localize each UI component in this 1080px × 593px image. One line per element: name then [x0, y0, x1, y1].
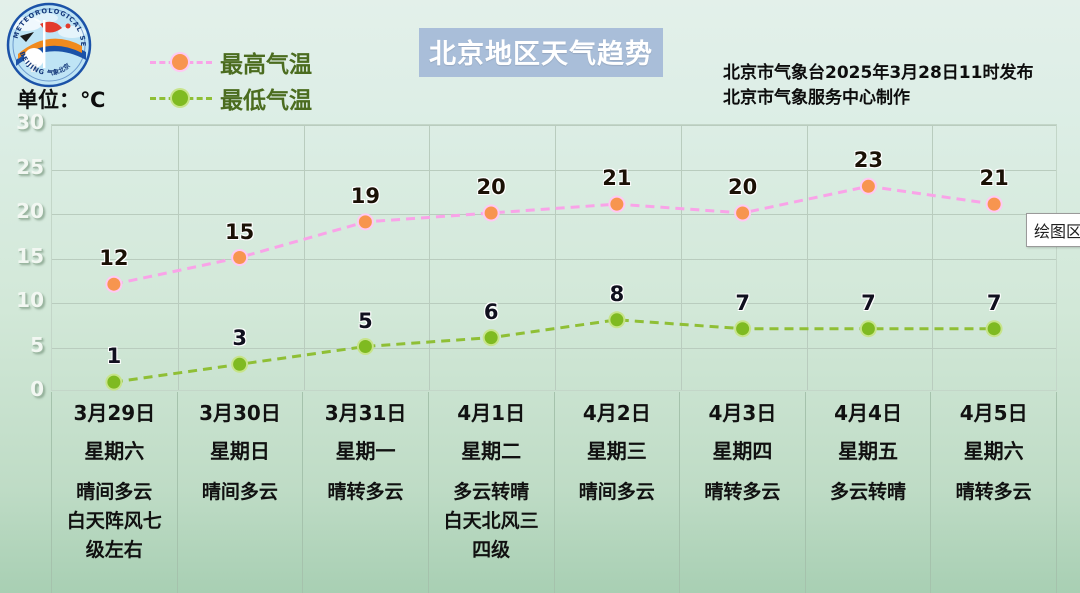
y-axis-tick-label: 0 [0, 377, 44, 401]
day-condition: 晴间多云白天阵风七级左右 [52, 478, 177, 565]
day-condition-line: 晴间多云 [54, 478, 175, 507]
value-label-low-temp: 6 [484, 300, 499, 324]
y-axis-tick-label: 30 [0, 110, 44, 134]
issuer-line-2: 北京市气象服务中心制作 [723, 86, 1033, 111]
day-condition-line: 晴转多云 [305, 478, 426, 507]
day-weekday: 星期五 [806, 436, 931, 466]
data-point-low-temp[interactable] [233, 358, 246, 371]
plot-area-tooltip: 绘图区 [1026, 213, 1080, 247]
legend-label-high-temp: 最高气温 [220, 45, 312, 79]
day-column: 4月2日星期三晴间多云 [554, 392, 680, 593]
value-label-high-temp: 23 [854, 148, 883, 172]
series-overlay [51, 124, 1057, 391]
data-point-high-temp[interactable] [107, 278, 120, 291]
data-point-high-temp[interactable] [233, 251, 246, 264]
value-label-low-temp: 1 [107, 344, 122, 368]
day-weekday: 星期六 [931, 436, 1056, 466]
day-column: 4月1日星期二多云转晴白天北风三四级 [428, 392, 554, 593]
day-weekday: 星期二 [429, 436, 554, 466]
day-detail-table: 3月29日星期六晴间多云白天阵风七级左右3月30日星期日晴间多云3月31日星期一… [51, 392, 1057, 593]
day-condition-line: 多云转晴 [808, 478, 929, 507]
day-column: 4月3日星期四晴转多云 [679, 392, 805, 593]
day-weekday: 星期日 [178, 436, 303, 466]
day-condition: 晴间多云 [178, 478, 303, 507]
day-condition-line: 晴转多云 [933, 478, 1054, 507]
day-column: 3月30日星期日晴间多云 [177, 392, 303, 593]
value-label-high-temp: 20 [728, 175, 757, 199]
data-point-high-temp[interactable] [988, 198, 1001, 211]
day-condition-line: 四级 [431, 536, 552, 565]
data-point-high-temp[interactable] [736, 207, 749, 220]
day-condition: 晴转多云 [680, 478, 805, 507]
day-date: 3月29日 [52, 399, 177, 427]
day-condition: 多云转晴 [806, 478, 931, 507]
data-point-low-temp[interactable] [862, 322, 875, 335]
day-condition-line: 晴间多云 [180, 478, 301, 507]
value-label-low-temp: 7 [735, 291, 750, 315]
value-label-high-temp: 21 [602, 166, 631, 190]
value-label-high-temp: 21 [980, 166, 1009, 190]
data-point-high-temp[interactable] [862, 180, 875, 193]
day-condition-line: 白天阵风七 [54, 507, 175, 536]
day-weekday: 星期四 [680, 436, 805, 466]
data-point-high-temp[interactable] [610, 198, 623, 211]
data-point-low-temp[interactable] [485, 331, 498, 344]
day-column: 4月5日星期六晴转多云 [930, 392, 1057, 593]
y-axis-tick-label: 10 [0, 288, 44, 312]
issuer-info: 北京市气象台2025年3月28日11时发布 北京市气象服务中心制作 [723, 61, 1033, 111]
day-date: 4月3日 [680, 399, 805, 427]
data-point-low-temp[interactable] [107, 376, 120, 389]
weather-trend-chart-page: METEOROLOGICAL SERVICE BEIJING 气象北京 单位：℃… [0, 0, 1080, 593]
value-label-low-temp: 7 [987, 291, 1002, 315]
value-label-high-temp: 19 [351, 184, 380, 208]
data-point-low-temp[interactable] [736, 322, 749, 335]
y-axis-tick-label: 15 [0, 244, 44, 268]
issuer-line-1: 北京市气象台2025年3月28日11时发布 [723, 61, 1033, 86]
data-point-high-temp[interactable] [359, 215, 372, 228]
legend-label-low-temp: 最低气温 [220, 81, 312, 115]
y-axis-tick-label: 25 [0, 155, 44, 179]
day-weekday: 星期三 [555, 436, 680, 466]
day-condition: 多云转晴白天北风三四级 [429, 478, 554, 565]
day-weekday: 星期六 [52, 436, 177, 466]
y-axis-tick-label: 20 [0, 199, 44, 223]
day-condition: 晴间多云 [555, 478, 680, 507]
data-point-high-temp[interactable] [485, 207, 498, 220]
value-label-high-temp: 20 [477, 175, 506, 199]
day-column: 4月4日星期五多云转晴 [805, 392, 931, 593]
legend-marker-high-temp-icon [150, 53, 212, 71]
day-condition-line: 级左右 [54, 536, 175, 565]
day-condition: 晴转多云 [303, 478, 428, 507]
y-axis-tick-label: 5 [0, 333, 44, 357]
day-condition-line: 晴转多云 [682, 478, 803, 507]
day-column: 3月29日星期六晴间多云白天阵风七级左右 [51, 392, 177, 593]
day-weekday: 星期一 [303, 436, 428, 466]
day-condition-line: 白天北风三 [431, 507, 552, 536]
day-date: 4月1日 [429, 399, 554, 427]
value-label-low-temp: 7 [861, 291, 876, 315]
value-label-low-temp: 8 [610, 282, 625, 306]
legend-marker-low-temp-icon [150, 89, 212, 107]
day-date: 3月31日 [303, 399, 428, 427]
value-label-high-temp: 15 [225, 220, 254, 244]
legend-item-high-temp: 最高气温 [150, 44, 380, 80]
day-condition: 晴转多云 [931, 478, 1056, 507]
beijing-meteorological-service-logo-icon: METEOROLOGICAL SERVICE BEIJING 气象北京 [6, 2, 92, 88]
day-date: 3月30日 [178, 399, 303, 427]
value-label-low-temp: 3 [232, 326, 247, 350]
value-label-low-temp: 5 [358, 309, 373, 333]
day-column: 3月31日星期一晴转多云 [302, 392, 428, 593]
day-date: 4月2日 [555, 399, 680, 427]
day-condition-line: 晴间多云 [557, 478, 678, 507]
day-condition-line: 多云转晴 [431, 478, 552, 507]
chart-legend: 最高气温 最低气温 [150, 44, 380, 116]
day-date: 4月5日 [931, 399, 1056, 427]
value-label-high-temp: 12 [99, 246, 128, 270]
chart-title: 北京地区天气趋势 [419, 28, 663, 77]
day-date: 4月4日 [806, 399, 931, 427]
data-point-low-temp[interactable] [610, 313, 623, 326]
data-point-low-temp[interactable] [359, 340, 372, 353]
legend-item-low-temp: 最低气温 [150, 80, 380, 116]
data-point-low-temp[interactable] [988, 322, 1001, 335]
